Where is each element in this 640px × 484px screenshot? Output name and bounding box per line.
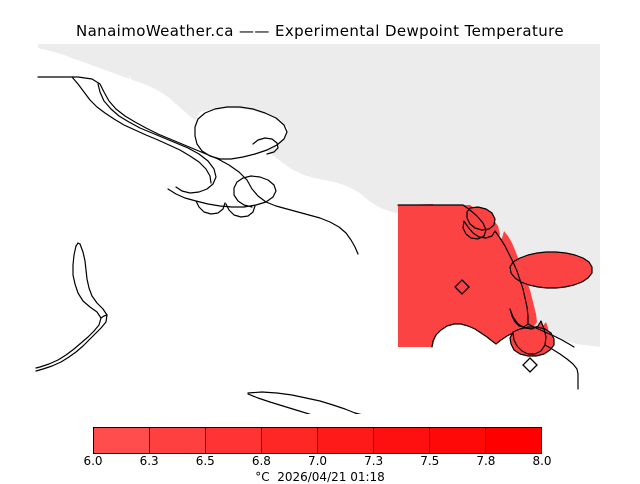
colorbar-segment-7 [486, 428, 541, 453]
colorbar-tick-6.0: 6.0 [83, 454, 102, 468]
colorbar-segment-4 [318, 428, 374, 453]
colorbar-tick-7.8: 7.8 [476, 454, 495, 468]
page-title: NanaimoWeather.ca —— Experimental Dewpoi… [0, 22, 640, 40]
colorbar-tick-labels: 6.06.36.56.87.07.37.57.88.0 [0, 454, 640, 470]
colorbar-region: 6.06.36.56.87.07.37.57.88.0 °C 2026/04/2… [0, 420, 640, 480]
colorbar-tick-6.8: 6.8 [252, 454, 271, 468]
colorbar-segment-6 [430, 428, 486, 453]
colorbar-segment-0 [94, 428, 150, 453]
map-canvas[interactable] [0, 44, 640, 414]
colorbar-tick-7.0: 7.0 [308, 454, 327, 468]
weather-map-page: NanaimoWeather.ca —— Experimental Dewpoi… [0, 0, 640, 480]
colorbar-caption: °C 2026/04/21 01:18 [0, 470, 640, 484]
map-graphic[interactable] [0, 44, 640, 414]
colorbar-tick-7.5: 7.5 [420, 454, 439, 468]
colorbar-tick-6.3: 6.3 [140, 454, 159, 468]
colorbar-segment-2 [206, 428, 262, 453]
colorbar-gradient[interactable] [93, 427, 542, 454]
colorbar-segment-3 [262, 428, 318, 453]
colorbar-tick-7.3: 7.3 [364, 454, 383, 468]
colorbar-segment-5 [374, 428, 430, 453]
colorbar-tick-8.0: 8.0 [532, 454, 551, 468]
colorbar-tick-6.5: 6.5 [196, 454, 215, 468]
colorbar-segment-1 [150, 428, 206, 453]
